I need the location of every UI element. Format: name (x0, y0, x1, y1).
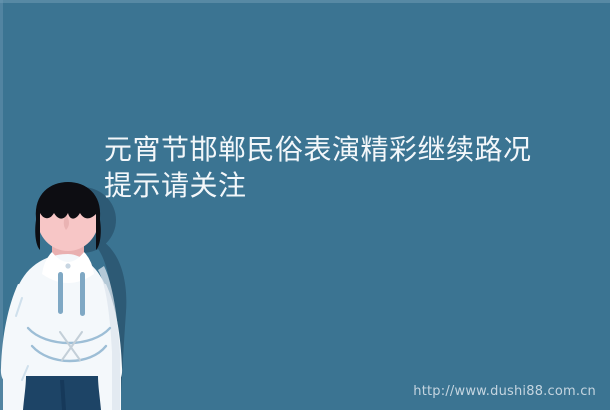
watermark-url: http://www.dushi88.com.cn (413, 384, 596, 399)
headline-line-1: 元宵节邯郸民俗表演精彩继续路况 (104, 132, 598, 168)
hair-sideburn-left (35, 220, 40, 250)
article-banner: 元宵节邯郸民俗表演精彩继续路况 提示请关注 http://www.dushi88… (0, 0, 610, 410)
headline-line-2: 提示请关注 (104, 168, 598, 204)
hood-eyelet (65, 263, 70, 268)
headline: 元宵节邯郸民俗表演精彩继续路况 提示请关注 (104, 132, 598, 204)
top-edge-highlight (0, 0, 610, 3)
drawstring-left (58, 272, 63, 314)
person-illustration (0, 180, 142, 410)
drawstring-right (80, 272, 85, 316)
